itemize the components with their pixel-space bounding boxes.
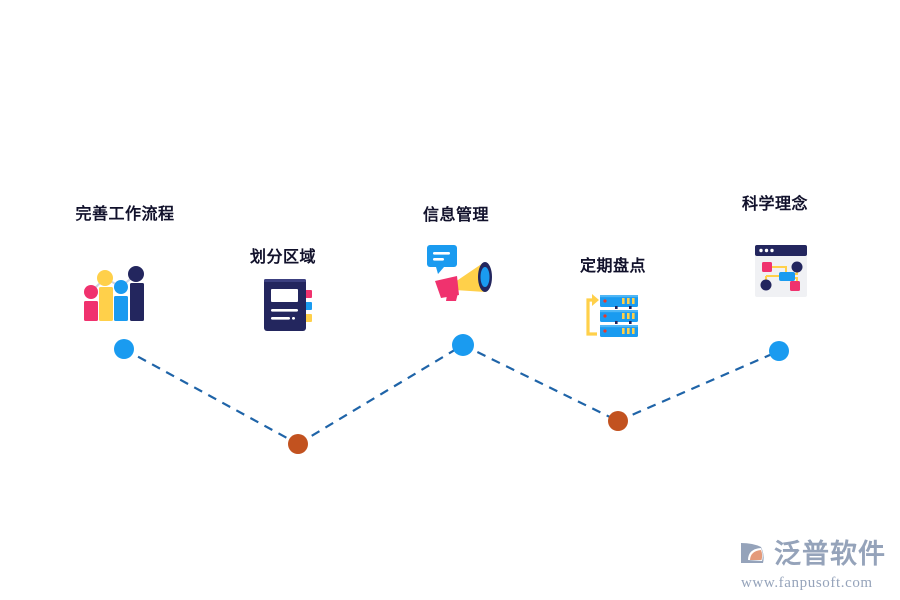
connector-line [298, 345, 463, 444]
node-label-3: 信息管理 [423, 201, 489, 225]
node-label-5: 科学理念 [742, 190, 808, 214]
node-label-4: 定期盘点 [580, 252, 646, 276]
server-rack-icon [584, 292, 640, 345]
milestone-dot[interactable] [769, 341, 789, 361]
brand-watermark: 泛普软件 www.fanpusoft.com [739, 537, 886, 592]
node-label-2: 划分区域 [250, 243, 316, 267]
fanpu-logo-icon [739, 537, 769, 572]
bar-chart-icon [82, 265, 146, 328]
node-label-1: 完善工作流程 [75, 200, 174, 224]
browser-flowchart-icon [753, 243, 809, 304]
connector-line [124, 349, 298, 444]
notebook-icon [261, 276, 315, 337]
infographic-canvas: 完善工作流程 划分区域 [0, 0, 900, 600]
connector-line [463, 345, 618, 421]
brand-row: 泛普软件 [739, 537, 886, 572]
milestone-dot[interactable] [288, 434, 308, 454]
milestone-dot[interactable] [114, 339, 134, 359]
megaphone-icon [427, 245, 493, 306]
milestone-dot[interactable] [608, 411, 628, 431]
connector-line [618, 351, 779, 421]
brand-url: www.fanpusoft.com [741, 575, 873, 592]
milestone-dot[interactable] [452, 334, 474, 356]
brand-name: 泛普软件 [774, 541, 886, 568]
